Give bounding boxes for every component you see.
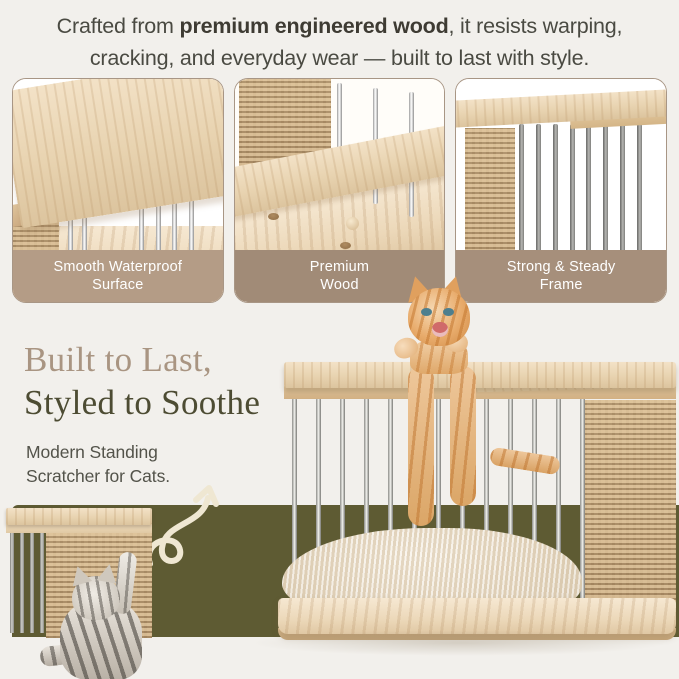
card-caption-line1: Strong & Steady [507,259,616,275]
card-caption-line2: Frame [540,277,583,293]
feature-card-row: Smooth Waterproof Surface [12,78,667,303]
wood-base [278,598,676,634]
card-caption-line2: Surface [92,277,143,293]
hero-subtitle-line1: Modern Standing [26,442,158,462]
card-caption-line1: Premium [310,259,369,275]
floor-shadow [250,630,670,656]
orange-tabby-cat-image [388,280,498,372]
feature-card-premium-wood: Premium Wood [234,78,446,303]
page-headline: Crafted from premium engineered wood, it… [0,10,679,74]
silver-tabby-cat-image [42,548,182,679]
card-caption-line1: Smooth Waterproof [54,259,183,275]
feature-card-smooth-waterproof-surface: Smooth Waterproof Surface [12,78,224,303]
sisal-post [584,400,676,610]
headline-emphasis: premium engineered wood [180,14,449,38]
card-caption-line2: Wood [320,277,358,293]
orange-tabby-cat-body [404,366,496,526]
headline-part1: Crafted from [57,14,180,38]
product-infographic: Crafted from premium engineered wood, it… [0,0,679,679]
feature-card-strong-steady-frame: Strong & Steady Frame [455,78,667,303]
card-caption: Smooth Waterproof Surface [13,250,223,302]
